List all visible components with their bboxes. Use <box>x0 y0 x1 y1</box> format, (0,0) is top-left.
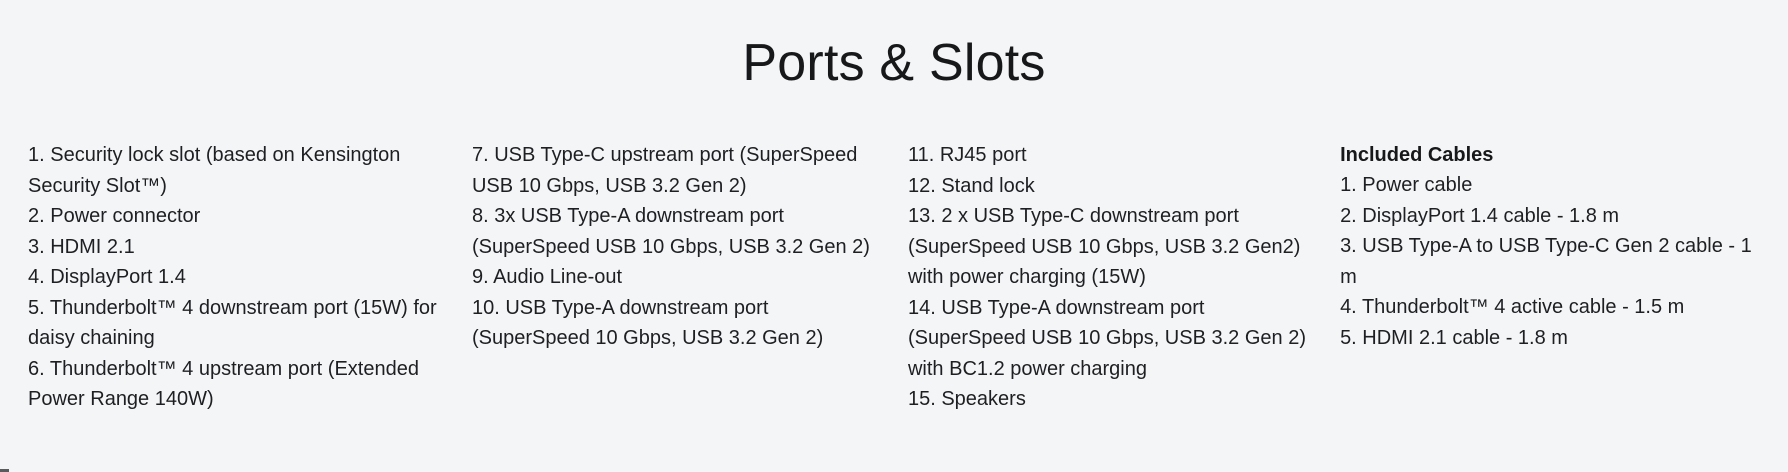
list-item: 3. HDMI 2.1 <box>28 232 446 263</box>
spec-list-2: 7. USB Type-C upstream port (SuperSpeed … <box>472 140 882 354</box>
list-item: 10. USB Type-A downstream port (SuperSpe… <box>472 293 882 354</box>
ports-and-slots-page: Ports & Slots 1. Security lock slot (bas… <box>0 0 1788 472</box>
list-item: 2. Power connector <box>28 201 446 232</box>
page-title: Ports & Slots <box>0 0 1788 95</box>
list-item: 1. Security lock slot (based on Kensingt… <box>28 140 446 201</box>
list-item: 2. DisplayPort 1.4 cable - 1.8 m <box>1340 201 1760 232</box>
list-item: 13. 2 x USB Type-C downstream port (Supe… <box>908 201 1314 293</box>
list-item: 4. Thunderbolt™ 4 active cable - 1.5 m <box>1340 292 1760 323</box>
list-item: 5. HDMI 2.1 cable - 1.8 m <box>1340 323 1760 354</box>
list-item: 5. Thunderbolt™ 4 downstream port (15W) … <box>28 293 446 354</box>
spec-list-1: 1. Security lock slot (based on Kensingt… <box>28 140 446 415</box>
list-item: 15. Speakers <box>908 384 1314 415</box>
list-item: 7. USB Type-C upstream port (SuperSpeed … <box>472 140 882 201</box>
spec-column-4: Included Cables 1. Power cable 2. Displa… <box>1340 140 1760 353</box>
list-item: 6. Thunderbolt™ 4 upstream port (Extende… <box>28 354 446 415</box>
list-item: 4. DisplayPort 1.4 <box>28 262 446 293</box>
list-item: 3. USB Type-A to USB Type-C Gen 2 cable … <box>1340 231 1760 292</box>
list-item: 9. Audio Line-out <box>472 262 882 293</box>
list-item: 14. USB Type-A downstream port (SuperSpe… <box>908 293 1314 385</box>
spec-list-3: 11. RJ45 port 12. Stand lock 13. 2 x USB… <box>908 140 1314 415</box>
included-cables-heading: Included Cables <box>1340 140 1760 170</box>
spec-list-4: 1. Power cable 2. DisplayPort 1.4 cable … <box>1340 170 1760 353</box>
spec-column-3: 11. RJ45 port 12. Stand lock 13. 2 x USB… <box>908 140 1340 415</box>
list-item: 11. RJ45 port <box>908 140 1314 171</box>
list-item: 8. 3x USB Type-A downstream port (SuperS… <box>472 201 882 262</box>
spec-columns: 1. Security lock slot (based on Kensingt… <box>0 140 1788 415</box>
list-item: 1. Power cable <box>1340 170 1760 201</box>
list-item: 12. Stand lock <box>908 171 1314 202</box>
spec-column-1: 1. Security lock slot (based on Kensingt… <box>28 140 472 415</box>
spec-column-2: 7. USB Type-C upstream port (SuperSpeed … <box>472 140 908 354</box>
